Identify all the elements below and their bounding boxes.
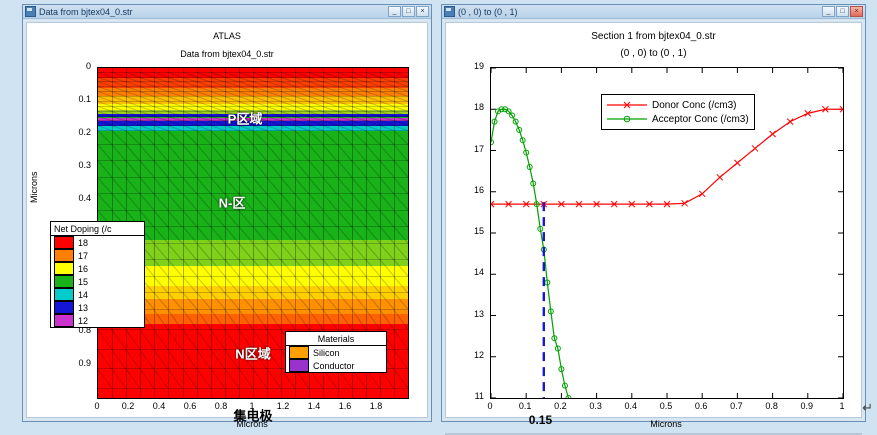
y-tick-label: 13 [454, 309, 484, 319]
maximize-button[interactable]: □ [836, 6, 849, 17]
x-tick-label: 0.3 [581, 401, 611, 411]
minimize-button[interactable]: _ [822, 6, 835, 17]
enter-glyph-icon: ↵ [862, 400, 873, 416]
materials-legend[interactable]: MaterialsSiliconConductor [285, 331, 387, 373]
legend-marker [607, 113, 647, 125]
x-tick-label: 1.6 [330, 401, 360, 411]
close-button[interactable]: × [416, 6, 429, 17]
left-plot-canvas: ATLAS Data from bjtex04_0.str Microns Mi… [26, 22, 428, 418]
legend-label: Donor Conc (/cm3) [652, 100, 736, 111]
left-header-top: ATLAS [27, 31, 427, 41]
x-tick-label: 1.2 [268, 401, 298, 411]
legend-swatch [54, 249, 74, 262]
legend-item: 13 [51, 301, 144, 314]
legend-item: 12 [51, 314, 144, 327]
y-tick-label: 0.9 [61, 358, 91, 368]
x-tick-label: 1 [827, 401, 857, 411]
y-tick-label: 18 [454, 102, 484, 112]
legend-label: Conductor [313, 361, 355, 371]
x-tick-label: 0.4 [616, 401, 646, 411]
y-tick-label: 0.4 [61, 193, 91, 203]
x-tick-label: 0 [82, 401, 112, 411]
minimize-button[interactable]: _ [388, 6, 401, 17]
legend-item: 16 [51, 262, 144, 275]
y-tick-label: 0.2 [61, 127, 91, 137]
mesh-line [98, 388, 408, 389]
legend-item: 18 [51, 236, 144, 249]
right-plot-area[interactable]: Donor Conc (/cm3)Acceptor Conc (/cm3) [490, 67, 844, 399]
y-tick-label: 12 [454, 350, 484, 360]
legend-label: Acceptor Conc (/cm3) [652, 114, 749, 125]
y-tick-label: 17 [454, 144, 484, 154]
y-tick-label: 11 [454, 391, 484, 401]
series-line [491, 109, 568, 398]
y-tick-label: 16 [454, 185, 484, 195]
y-tick-label: 0 [61, 61, 91, 71]
legend-item: 15 [51, 275, 144, 288]
x-tick-label: 0.2 [545, 401, 575, 411]
y-tick-label: 0.1 [61, 94, 91, 104]
right-window-buttons[interactable]: _ □ × [822, 6, 863, 17]
net-doping-legend-title: Net Doping (/c [51, 222, 144, 236]
legend-swatch [289, 346, 309, 359]
left-window-buttons[interactable]: _ □ × [388, 6, 429, 17]
legend-marker [607, 99, 647, 111]
x-tick-label: 0 [475, 401, 505, 411]
legend-item: Acceptor Conc (/cm3) [607, 112, 749, 126]
left-window-title: Data from bjtex04_0.str [39, 7, 388, 17]
legend-label: 16 [78, 264, 88, 274]
y-tick-label: 19 [454, 61, 484, 71]
legend-item: 17 [51, 249, 144, 262]
y-tick-label: 15 [454, 226, 484, 236]
legend-swatch [54, 275, 74, 288]
x-tick-label: 1.4 [299, 401, 329, 411]
materials-legend-title: Materials [286, 332, 386, 346]
legend-item: Donor Conc (/cm3) [607, 98, 749, 112]
y-tick-label: 0.3 [61, 160, 91, 170]
left-y-axis-label: Microns [29, 171, 39, 203]
x-tick-label: 0.1 [510, 401, 540, 411]
legend-label: Silicon [313, 348, 340, 358]
x-tick-label: 1 [237, 401, 267, 411]
region-label: P区域 [228, 109, 263, 128]
legend-swatch [54, 314, 74, 327]
right-plot-canvas: Section 1 from bjtex04_0.str (0 , 0) to … [445, 22, 862, 418]
x-tick-label: 0.9 [792, 401, 822, 411]
right-window-titlebar[interactable]: (0 , 0) to (0 , 1) _ □ × [442, 5, 865, 19]
legend-label: 15 [78, 277, 88, 287]
x-tick-label: 0.5 [651, 401, 681, 411]
left-window-titlebar[interactable]: Data from bjtex04_0.str _ □ × [23, 5, 431, 19]
legend-label: 14 [78, 290, 88, 300]
x-tick-label: 0.4 [144, 401, 174, 411]
x-tick-label: 0.8 [757, 401, 787, 411]
legend-item: 14 [51, 288, 144, 301]
x-tick-label: 1.8 [361, 401, 391, 411]
left-header-sub: Data from bjtex04_0.str [27, 49, 427, 59]
region-label: N区域 [235, 344, 270, 363]
legend-label: 18 [78, 238, 88, 248]
net-doping-legend[interactable]: Net Doping (/c18171615141312 [50, 221, 145, 328]
x-tick-label: 0.2 [113, 401, 143, 411]
legend-swatch [289, 359, 309, 372]
section-legend[interactable]: Donor Conc (/cm3)Acceptor Conc (/cm3) [601, 94, 755, 130]
right-header-sub: (0 , 0) to (0 , 1) [446, 48, 861, 59]
legend-label: 17 [78, 251, 88, 261]
legend-swatch [54, 236, 74, 249]
legend-swatch [54, 262, 74, 275]
legend-swatch [54, 288, 74, 301]
legend-label: 13 [78, 303, 88, 313]
legend-item: Conductor [286, 359, 386, 372]
maximize-button[interactable]: □ [402, 6, 415, 17]
legend-label: 12 [78, 316, 88, 326]
marker-annotation-label: 0.15 [529, 413, 552, 427]
region-label: N-区 [219, 193, 246, 212]
right-header-top: Section 1 from bjtex04_0.str [446, 31, 861, 42]
x-tick-label: 0.6 [175, 401, 205, 411]
legend-item: Silicon [286, 346, 386, 359]
x-tick-label: 0.8 [206, 401, 236, 411]
y-tick-label: 14 [454, 267, 484, 277]
left-window[interactable]: Data from bjtex04_0.str _ □ × ATLAS Data… [22, 4, 432, 422]
x-tick-label: 0.6 [686, 401, 716, 411]
legend-swatch [54, 301, 74, 314]
x-tick-label: 0.7 [721, 401, 751, 411]
app-icon [444, 6, 455, 17]
close-button[interactable]: × [850, 6, 863, 17]
app-icon [25, 6, 36, 17]
right-window[interactable]: (0 , 0) to (0 , 1) _ □ × Section 1 from … [441, 4, 866, 422]
right-window-title: (0 , 0) to (0 , 1) [458, 7, 822, 17]
